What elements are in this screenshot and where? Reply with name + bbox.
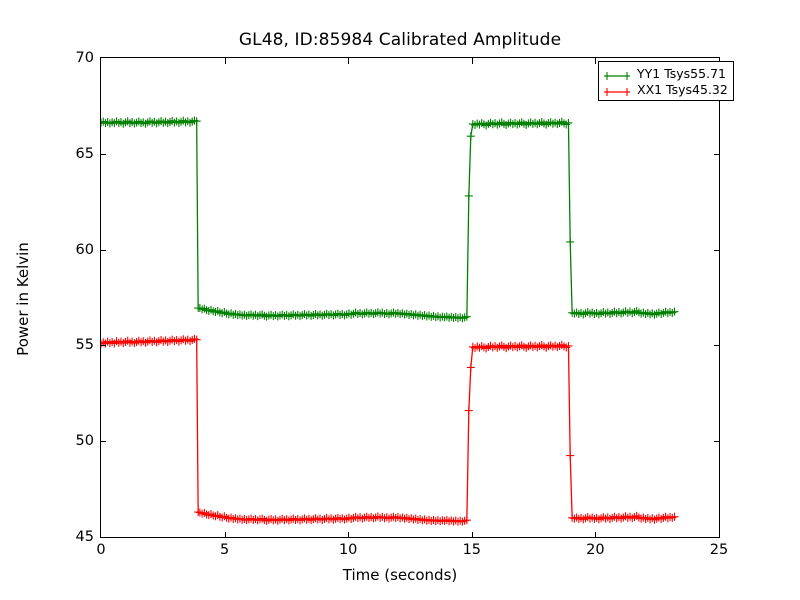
- series-1: [101, 116, 679, 322]
- y-tick-mark: [714, 154, 720, 155]
- y-tick-mark: [100, 154, 106, 155]
- x-tick-mark: [225, 58, 226, 64]
- y-tick-mark: [100, 441, 106, 442]
- x-tick-mark: [348, 58, 349, 64]
- series-line: [101, 339, 675, 522]
- x-tick-mark: [595, 532, 596, 538]
- x-tick-label: 20: [565, 542, 625, 558]
- y-tick-label: 55: [54, 337, 94, 353]
- y-axis-label: Power in Kelvin: [14, 199, 32, 399]
- legend-swatch-icon: [603, 83, 631, 95]
- x-tick-mark: [225, 532, 226, 538]
- x-tick-mark: [348, 532, 349, 538]
- x-tick-label: 25: [689, 542, 749, 558]
- x-axis-label: Time (seconds): [0, 566, 800, 584]
- y-tick-label: 70: [54, 50, 94, 66]
- legend-label: XX1 Tsys45.32: [637, 82, 728, 97]
- y-tick-label: 65: [54, 146, 94, 162]
- legend-label: YY1 Tsys55.71: [637, 66, 726, 81]
- x-tick-label: 5: [195, 542, 255, 558]
- legend-entry-1: YY1 Tsys55.71: [603, 65, 728, 81]
- x-tick-mark: [595, 58, 596, 64]
- y-tick-mark: [714, 250, 720, 251]
- y-tick-mark: [100, 345, 106, 346]
- chart-title: GL48, ID:85984 Calibrated Amplitude: [0, 30, 800, 50]
- y-tick-mark: [714, 441, 720, 442]
- x-tick-mark: [472, 532, 473, 538]
- series-markers: [101, 116, 679, 322]
- x-tick-label: 15: [442, 542, 502, 558]
- series-markers: [101, 335, 679, 526]
- figure-canvas: GL48, ID:85984 Calibrated Amplitude 4550…: [0, 0, 800, 600]
- plot-area: [100, 57, 720, 538]
- legend-swatch-icon: [603, 67, 631, 79]
- y-tick-mark: [714, 345, 720, 346]
- y-tick-label: 50: [54, 433, 94, 449]
- series-line: [101, 120, 675, 318]
- series-2: [101, 335, 679, 526]
- y-tick-label: 60: [54, 242, 94, 258]
- y-axis-tick-labels: 455055606570: [48, 0, 94, 600]
- plot-series-svg: [101, 58, 719, 537]
- legend: YY1 Tsys55.71XX1 Tsys45.32: [598, 61, 734, 101]
- x-tick-label: 0: [71, 542, 131, 558]
- legend-entry-2: XX1 Tsys45.32: [603, 81, 728, 97]
- x-tick-label: 10: [318, 542, 378, 558]
- x-tick-mark: [472, 58, 473, 64]
- y-tick-mark: [100, 250, 106, 251]
